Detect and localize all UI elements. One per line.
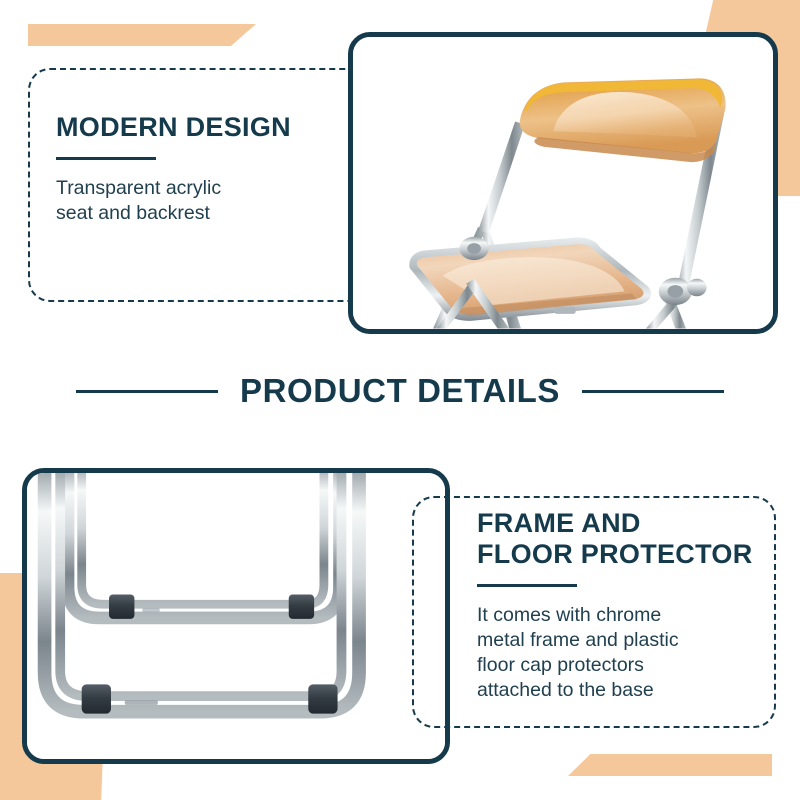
product-photo-chair xyxy=(348,32,778,334)
frame-illustration xyxy=(27,473,445,759)
decoration-peach-bottom-right xyxy=(568,754,772,776)
divider-line-left xyxy=(76,390,218,393)
chair-illustration xyxy=(353,37,773,329)
divider-line-right xyxy=(582,390,724,393)
heading-rule-modern-design xyxy=(56,157,156,160)
decoration-peach-top-left xyxy=(28,24,256,46)
feature-heading-modern-design: MODERN DESIGN xyxy=(56,112,356,143)
feature-card-frame-and-floor-protector xyxy=(412,496,776,728)
section-divider: PRODUCT DETAILS xyxy=(0,372,800,410)
section-title: PRODUCT DETAILS xyxy=(240,372,560,410)
feature-text-modern-design: MODERN DESIGN Transparent acrylic seat a… xyxy=(56,112,356,226)
feature-body-modern-design: Transparent acrylic seat and backrest xyxy=(56,176,356,226)
product-photo-frame xyxy=(22,468,450,764)
infographic-canvas: MODERN DESIGN Transparent acrylic seat a… xyxy=(0,0,800,800)
